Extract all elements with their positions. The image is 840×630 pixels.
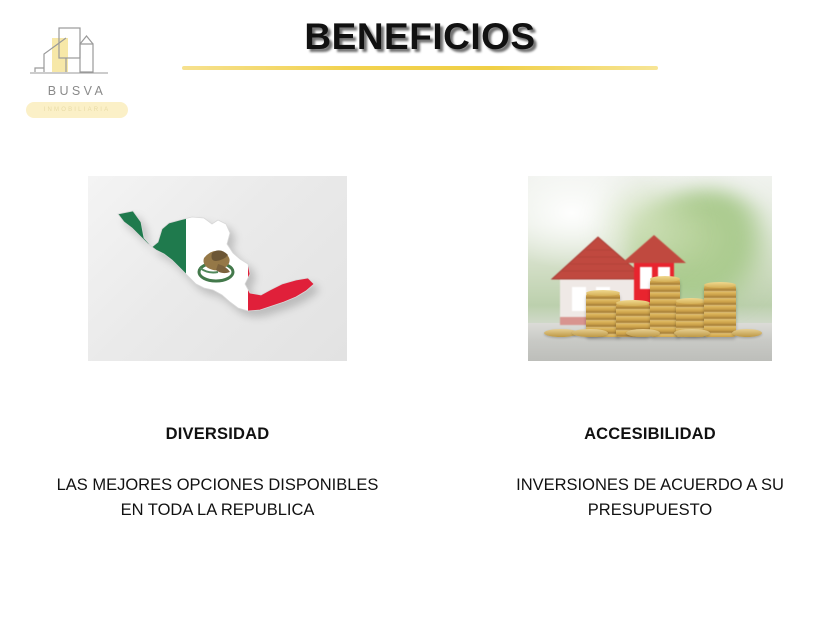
page-title: BENEFICIOS	[0, 16, 840, 58]
mexico-flag-map-image	[88, 176, 347, 361]
benefit-card-diversidad: DIVERSIDAD LAS MEJORES OPCIONES DISPONIB…	[88, 176, 347, 361]
benefit-caption-diversidad: DIVERSIDAD LAS MEJORES OPCIONES DISPONIB…	[26, 397, 409, 523]
benefit-caption-accesibilidad: ACCESIBILIDAD INVERSIONES DE ACUERDO A S…	[510, 397, 790, 523]
benefit-body: LAS MEJORES OPCIONES DISPONIBLES EN TODA…	[57, 476, 379, 519]
loose-coin	[572, 329, 608, 337]
logo-tagline: INMOBILIARIA	[26, 102, 128, 118]
benefit-body: INVERSIONES DE ACUERDO A SU PRESUPUESTO	[516, 476, 784, 519]
loose-coin	[674, 329, 710, 337]
benefit-heading: ACCESIBILIDAD	[510, 422, 790, 447]
benefit-heading: DIVERSIDAD	[26, 422, 409, 447]
loose-coin	[626, 329, 660, 337]
loose-coin	[732, 329, 762, 337]
coin-stack	[704, 285, 736, 337]
benefit-card-accesibilidad: ACCESIBILIDAD INVERSIONES DE ACUERDO A S…	[528, 176, 772, 361]
title-underline-rule	[182, 66, 658, 70]
coin-stacks	[528, 257, 772, 337]
logo-wordmark: BUSVA	[22, 84, 132, 98]
house-and-coins-image	[528, 176, 772, 361]
